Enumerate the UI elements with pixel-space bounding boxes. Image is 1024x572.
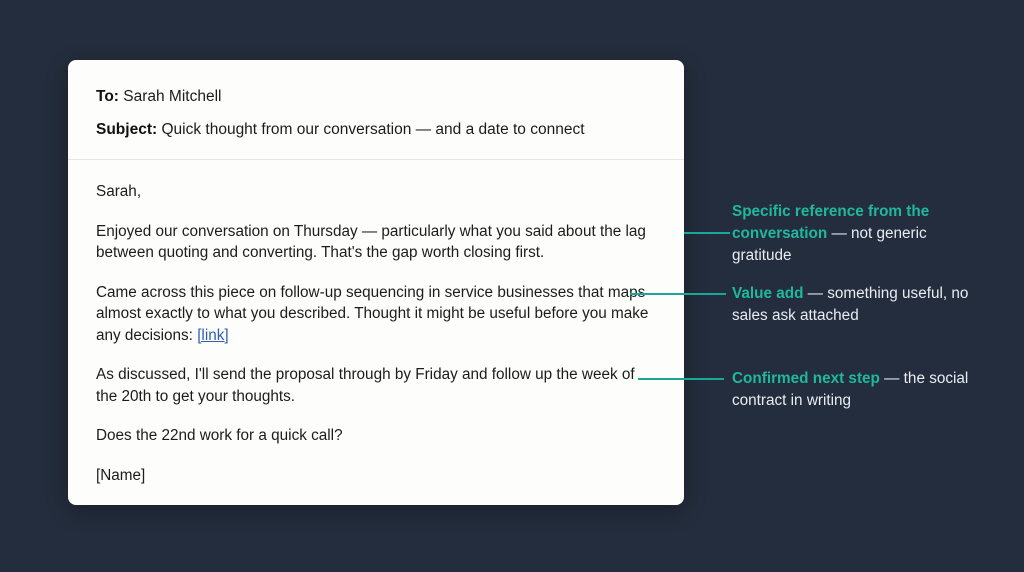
email-paragraph-2: Came across this piece on follow-up sequ… [96,282,656,347]
email-paragraph-2-text: Came across this piece on follow-up sequ… [96,284,648,344]
annotation-1: Specific reference from the conversation… [732,201,982,267]
email-header: To: Sarah Mitchell Subject: Quick though… [68,60,684,160]
email-paragraph-1: Enjoyed our conversation on Thursday — p… [96,221,656,264]
email-greeting: Sarah, [96,181,656,203]
connector-line-3 [638,378,724,380]
email-paragraph-3: As discussed, I'll send the proposal thr… [96,364,656,407]
email-paragraph-4: Does the 22nd work for a quick call? [96,425,656,447]
annotated-email-diagram: To: Sarah Mitchell Subject: Quick though… [0,0,1024,572]
email-body: Sarah, Enjoyed our conversation on Thurs… [68,160,684,486]
annotation-3: Confirmed next step — the social contrac… [732,368,982,412]
email-to-label: To: [96,88,119,105]
email-card: To: Sarah Mitchell Subject: Quick though… [68,60,684,505]
connector-line-1 [684,232,730,234]
email-subject-row: Subject: Quick thought from our conversa… [96,119,656,141]
annotation-2: Value add — something useful, no sales a… [732,283,982,327]
email-subject-value: Quick thought from our conversation — an… [161,121,584,138]
email-signature: [Name] [96,465,656,487]
email-to-value: Sarah Mitchell [123,88,221,105]
email-body-link[interactable]: [link] [197,327,228,344]
email-to-row: To: Sarah Mitchell [96,86,656,108]
email-subject-label: Subject: [96,121,157,138]
annotation-2-strong: Value add [732,285,803,302]
annotation-3-strong: Confirmed next step [732,370,880,387]
connector-line-2 [630,293,726,295]
